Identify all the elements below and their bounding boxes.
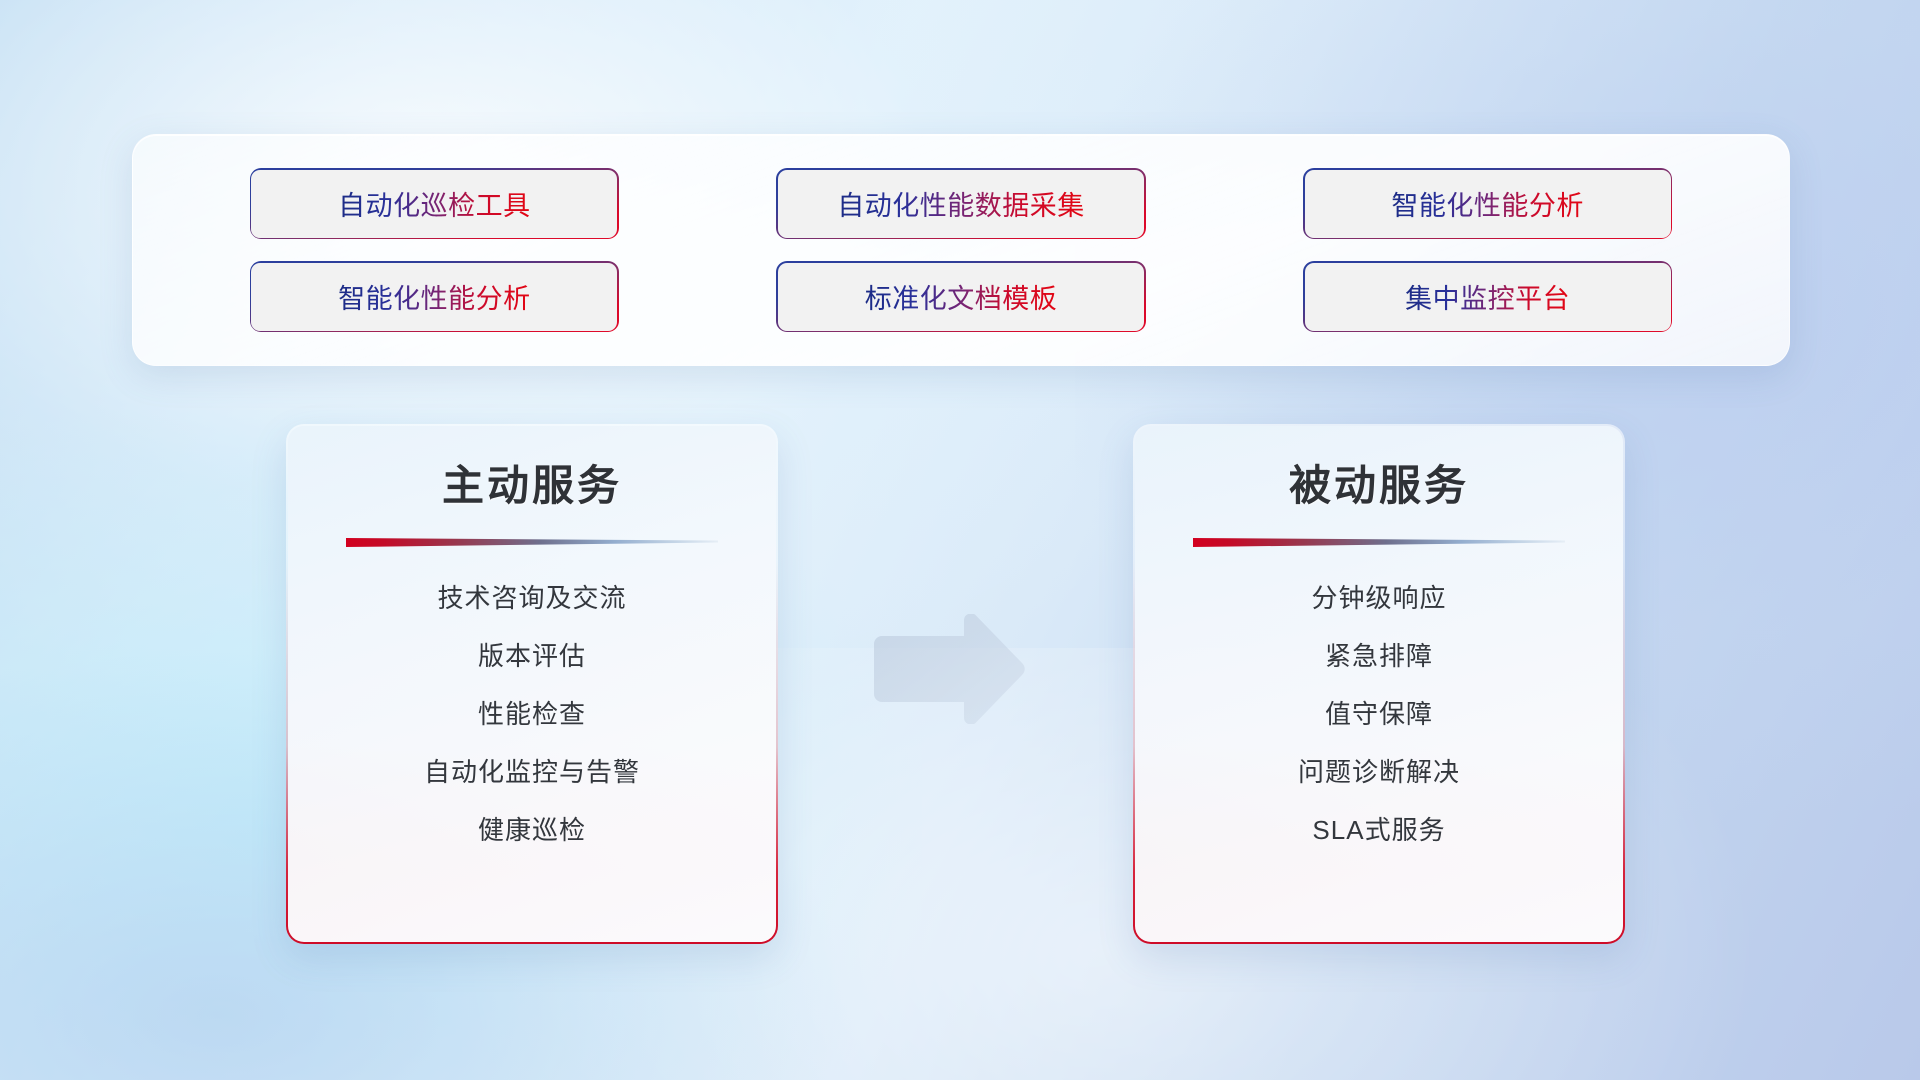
capability-button-label: 智能化性能分析 <box>1391 184 1584 223</box>
list-item: 版本评估 <box>288 627 776 685</box>
capability-button-automated-performance-data-collection[interactable]: 自动化性能数据采集 <box>778 170 1144 238</box>
list-item: 分钟级响应 <box>1135 569 1623 627</box>
list-item: 紧急排障 <box>1135 627 1623 685</box>
list-item: 值守保障 <box>1135 685 1623 743</box>
service-card-passive-title: 被动服务 <box>1289 452 1469 513</box>
capability-button-label: 集中监控平台 <box>1405 277 1570 316</box>
capability-button-label: 标准化文档模板 <box>865 277 1058 316</box>
capability-button-intelligent-performance-analysis-1[interactable]: 智能化性能分析 <box>1305 170 1671 238</box>
list-item: 自动化监控与告警 <box>288 743 776 801</box>
capability-button-standardized-document-template[interactable]: 标准化文档模板 <box>778 263 1144 331</box>
arrow-right-icon <box>868 614 1028 724</box>
list-item: 健康巡检 <box>288 801 776 859</box>
title-divider <box>1193 535 1565 547</box>
capability-button-label: 自动化巡检工具 <box>338 184 531 223</box>
service-card-active-body: 主动服务 技术咨询及交流 版本评估 <box>288 426 776 942</box>
service-card-passive-list: 分钟级响应 紧急排障 值守保障 问题诊断解决 SLA式服务 <box>1135 569 1623 859</box>
list-item: 技术咨询及交流 <box>288 569 776 627</box>
list-item: SLA式服务 <box>1135 801 1623 859</box>
list-item: 问题诊断解决 <box>1135 743 1623 801</box>
capability-button-label: 自动化性能数据采集 <box>837 184 1085 223</box>
title-divider <box>346 535 718 547</box>
capability-button-automated-inspection-tool[interactable]: 自动化巡检工具 <box>251 170 617 238</box>
service-card-active-title: 主动服务 <box>442 452 622 513</box>
capability-button-centralized-monitoring-platform[interactable]: 集中监控平台 <box>1305 263 1671 331</box>
service-card-active: 主动服务 技术咨询及交流 版本评估 <box>286 424 778 944</box>
service-card-active-list: 技术咨询及交流 版本评估 性能检查 自动化监控与告警 健康巡检 <box>288 569 776 859</box>
capability-panel: 自动化巡检工具 自动化性能数据采集 智能化性能分析 智能化性能分析 标准化文档模… <box>132 134 1790 366</box>
service-card-passive: 被动服务 分钟级响应 紧急排障 <box>1133 424 1625 944</box>
capability-button-intelligent-performance-analysis-2[interactable]: 智能化性能分析 <box>251 263 617 331</box>
list-item: 性能检查 <box>288 685 776 743</box>
capability-button-label: 智能化性能分析 <box>338 277 531 316</box>
service-card-passive-body: 被动服务 分钟级响应 紧急排障 <box>1135 426 1623 942</box>
